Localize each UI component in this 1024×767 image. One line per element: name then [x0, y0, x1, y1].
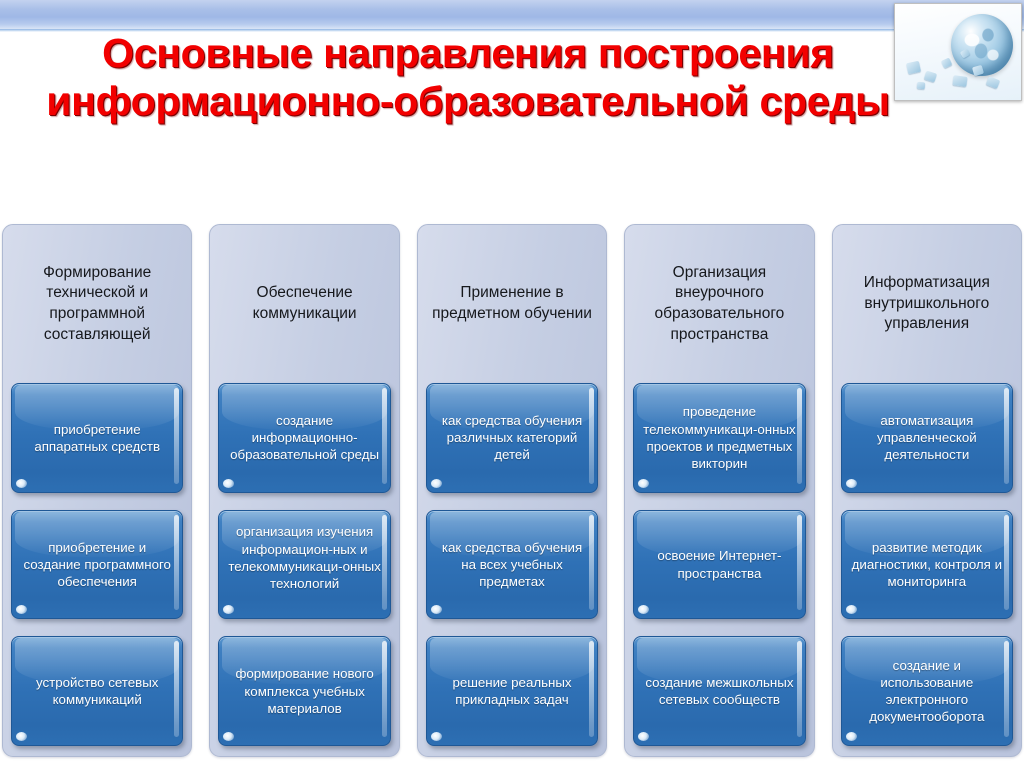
item-label: приобретение аппаратных средств	[19, 421, 175, 456]
item-label: устройство сетевых коммуникаций	[19, 674, 175, 709]
item-box[interactable]: освоение Интернет-пространства	[633, 510, 805, 620]
column-items: создание информационно-образовательной с…	[218, 383, 390, 746]
item-label: автоматизация управленческой деятельност…	[849, 412, 1005, 464]
item-label: создание межшкольных сетевых сообществ	[641, 674, 797, 709]
column-school-management: Информатизация внутришкольного управлени…	[832, 224, 1022, 757]
column-technical-software: Формирование технической и программной с…	[2, 224, 192, 757]
item-box[interactable]: формирование нового комплекса учебных ма…	[218, 636, 390, 746]
item-label: развитие методик диагностики, контроля и…	[849, 539, 1005, 591]
item-box[interactable]: как средства обучения на всех учебных пр…	[426, 510, 598, 620]
page-title-text: Основные направления построения информац…	[28, 30, 908, 126]
item-box[interactable]: развитие методик диагностики, контроля и…	[841, 510, 1013, 620]
column-header: Формирование технической и программной с…	[11, 225, 183, 383]
top-decorative-band	[0, 0, 1024, 31]
column-items: приобретение аппаратных средств приобрет…	[11, 383, 183, 746]
column-header: Организация внеурочного образовательного…	[633, 225, 805, 383]
item-box[interactable]: организация изучения информацион-ных и т…	[218, 510, 390, 620]
column-items: автоматизация управленческой деятельност…	[841, 383, 1013, 746]
item-label: освоение Интернет-пространства	[641, 547, 797, 582]
item-box[interactable]: устройство сетевых коммуникаций	[11, 636, 183, 746]
puzzle-shard-icon	[917, 82, 926, 90]
item-label: формирование нового комплекса учебных ма…	[226, 665, 382, 717]
column-communication: Обеспечение коммуникации создание информ…	[209, 224, 399, 757]
item-label: приобретение и создание программного обе…	[19, 539, 175, 591]
item-box[interactable]: создание и использование электронного до…	[841, 636, 1013, 746]
column-items: как средства обучения различных категори…	[426, 383, 598, 746]
item-box[interactable]: приобретение аппаратных средств	[11, 383, 183, 493]
item-box[interactable]: создание информационно-образовательной с…	[218, 383, 390, 493]
item-box[interactable]: автоматизация управленческой деятельност…	[841, 383, 1013, 493]
puzzle-shard-icon	[952, 75, 967, 87]
item-label: как средства обучения на всех учебных пр…	[434, 539, 590, 591]
item-box[interactable]: приобретение и создание программного обе…	[11, 510, 183, 620]
column-header: Информатизация внутришкольного управлени…	[841, 225, 1013, 383]
item-label: создание информационно-образовательной с…	[226, 412, 382, 464]
item-box[interactable]: как средства обучения различных категори…	[426, 383, 598, 493]
item-label: проведение телекоммуникаци-онных проекто…	[641, 403, 797, 472]
item-label: решение реальных прикладных задач	[434, 674, 590, 709]
column-header: Обеспечение коммуникации	[218, 225, 390, 383]
item-label: создание и использование электронного до…	[849, 657, 1005, 726]
item-box[interactable]: проведение телекоммуникаци-онных проекто…	[633, 383, 805, 493]
globe-puzzle-image	[894, 3, 1022, 101]
item-label: организация изучения информацион-ных и т…	[226, 523, 382, 592]
item-box[interactable]: решение реальных прикладных задач	[426, 636, 598, 746]
column-extracurricular-space: Организация внеурочного образовательного…	[624, 224, 814, 757]
column-subject-teaching: Применение в предметном обучении как сре…	[417, 224, 607, 757]
item-box[interactable]: создание межшкольных сетевых сообществ	[633, 636, 805, 746]
column-header: Применение в предметном обучении	[426, 225, 598, 383]
directions-grid: Формирование технической и программной с…	[0, 224, 1024, 757]
item-label: как средства обучения различных категори…	[434, 412, 590, 464]
page-title: Основные направления построения информац…	[28, 30, 908, 126]
column-items: проведение телекоммуникаци-онных проекто…	[633, 383, 805, 746]
